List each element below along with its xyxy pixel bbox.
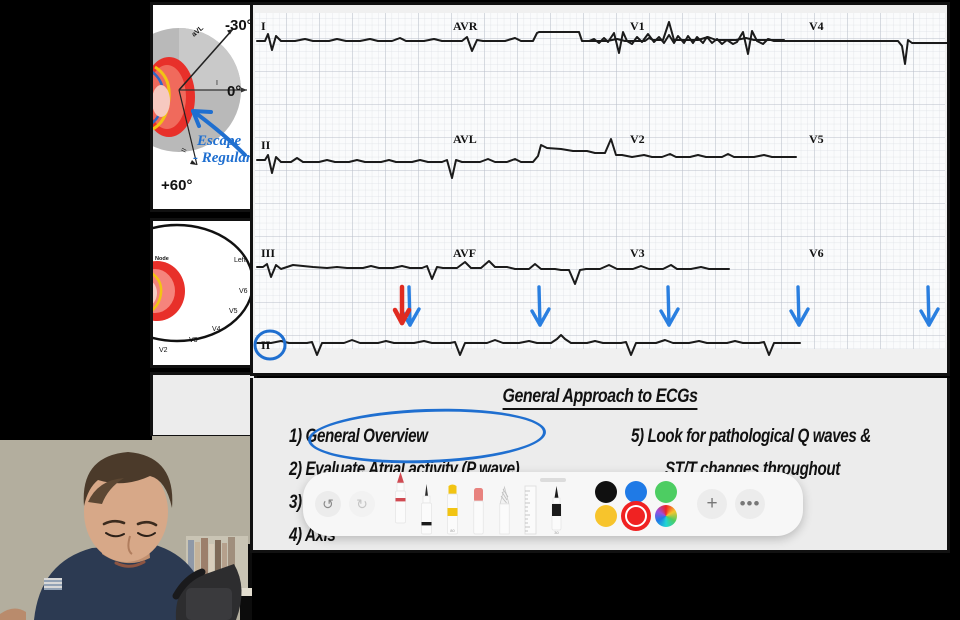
ecg-lead-label-V6: V6 bbox=[809, 246, 824, 260]
ecg-lead-label-I: I bbox=[261, 19, 266, 33]
highlighter-size-label: 80 bbox=[450, 528, 455, 533]
ruler-tool[interactable] bbox=[523, 482, 538, 536]
axis-neg30-label: -30° bbox=[225, 17, 253, 34]
pen-tool[interactable] bbox=[393, 472, 408, 526]
add-tool-button[interactable]: + bbox=[697, 489, 727, 519]
more-options-button[interactable]: ••• bbox=[735, 489, 765, 519]
eraser-tool[interactable] bbox=[471, 482, 486, 536]
escape-annotation-line2: - Regular bbox=[193, 150, 252, 166]
lead-i-label: I bbox=[216, 80, 218, 87]
highlighter-tool[interactable]: 80 bbox=[445, 482, 460, 536]
redo-icon: ↻ bbox=[356, 496, 368, 513]
ecg-lead-label-V4: V4 bbox=[809, 19, 824, 33]
v2-label: V2 bbox=[159, 347, 168, 354]
twelve-lead-ecg: I AVR V1 V4 II AVL V2 V5 III AVF V3 V6 I… bbox=[253, 5, 947, 373]
ecg-panel[interactable]: I AVR V1 V4 II AVL V2 V5 III AVF V3 V6 I… bbox=[250, 2, 950, 376]
screen-root: aVL I II -30° 0° +60° Escape - Regular bbox=[0, 0, 960, 620]
color-blue-swatch[interactable] bbox=[625, 481, 647, 503]
node-label: Node bbox=[155, 256, 169, 262]
ecg-lead-label-V3: V3 bbox=[630, 246, 645, 260]
cardiac-axis-diagram: aVL I II -30° 0° +60° Escape - Regular bbox=[153, 5, 254, 209]
empty-slide-panel[interactable] bbox=[150, 372, 257, 438]
pencil-tool[interactable] bbox=[497, 482, 512, 536]
chest-lead-panel[interactable]: Node Left V6 V5 V4 V3 V2 bbox=[150, 218, 257, 368]
ecg-lead-label-III: III bbox=[261, 246, 275, 260]
axis-zero-label: 0° bbox=[227, 83, 241, 100]
undo-icon: ↺ bbox=[322, 496, 334, 513]
ecg-lead-label-AVR: AVR bbox=[453, 19, 478, 33]
notes-title: General Approach to ECGs bbox=[309, 386, 892, 408]
v6-label: V6 bbox=[239, 288, 248, 295]
ecg-lead-label-AVL: AVL bbox=[453, 132, 477, 146]
ecg-lead-label-II: II bbox=[261, 138, 271, 152]
presenter-webcam-feed[interactable] bbox=[0, 436, 252, 620]
color-red-swatch-selected[interactable] bbox=[625, 505, 647, 527]
cardiac-axis-panel[interactable]: aVL I II -30° 0° +60° Escape - Regular bbox=[150, 2, 257, 212]
ellipsis-icon: ••• bbox=[740, 494, 761, 514]
color-palette-row-top bbox=[591, 480, 681, 504]
left-label: Left bbox=[234, 257, 246, 264]
v4-label: V4 bbox=[212, 326, 221, 333]
fountain-pen-tool[interactable] bbox=[419, 482, 434, 536]
plus-icon: + bbox=[706, 493, 717, 515]
ecg-rhythm-strip-label: II bbox=[261, 338, 271, 352]
redo-button[interactable]: ↻ bbox=[349, 491, 375, 517]
color-palette bbox=[591, 480, 681, 528]
markup-toolbar[interactable]: ↺ ↻ bbox=[303, 472, 803, 536]
ecg-lead-label-AVF: AVF bbox=[453, 246, 476, 260]
undo-button[interactable]: ↺ bbox=[315, 491, 341, 517]
chest-lead-diagram: Node Left V6 V5 V4 V3 V2 bbox=[153, 221, 254, 365]
color-palette-row-bottom bbox=[591, 504, 681, 528]
color-green-swatch[interactable] bbox=[655, 481, 677, 503]
notes-item: 1) General Overview bbox=[289, 420, 519, 453]
marker-size-label: 30 bbox=[554, 530, 559, 535]
color-black-swatch[interactable] bbox=[595, 481, 617, 503]
color-yellow-swatch[interactable] bbox=[595, 505, 617, 527]
ecg-lead-label-V1: V1 bbox=[630, 19, 645, 33]
marker-tool[interactable]: 30 bbox=[549, 482, 564, 536]
notes-item: 5) Look for pathological Q waves & bbox=[631, 420, 871, 453]
v5-label: V5 bbox=[229, 308, 238, 315]
ecg-lead-label-V2: V2 bbox=[630, 132, 645, 146]
ecg-lead-label-V5: V5 bbox=[809, 132, 824, 146]
color-spectrum-swatch[interactable] bbox=[655, 505, 677, 527]
axis-plus60-label: +60° bbox=[161, 177, 192, 194]
webcam-image bbox=[0, 436, 252, 620]
v3-label: V3 bbox=[189, 337, 198, 344]
escape-annotation-line1: Escape bbox=[196, 133, 242, 149]
